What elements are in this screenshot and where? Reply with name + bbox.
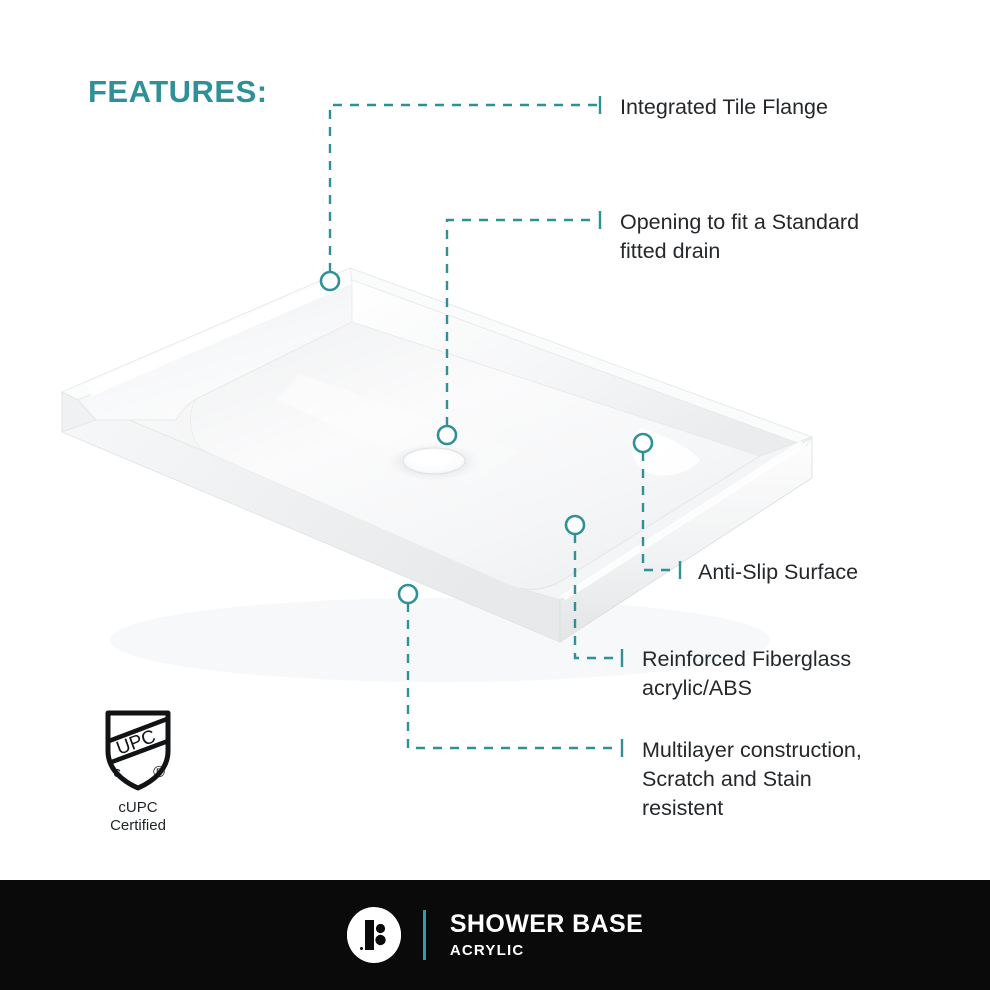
infographic-page: FEATURES: bbox=[0, 0, 990, 990]
cupc-shield-icon: UPC c ® bbox=[96, 707, 180, 793]
callout-label-integrated-tile-flange: Integrated Tile Flange bbox=[620, 93, 828, 122]
callout-label-multilayer-construction: Multilayer construction, Scratch and Sta… bbox=[642, 736, 862, 823]
callout-label-anti-slip-surface: Anti-Slip Surface bbox=[698, 558, 858, 587]
footer-bar: SHOWER BASE ACRYLIC bbox=[0, 880, 990, 990]
connector-anti-slip-surface bbox=[643, 452, 678, 570]
marker-standard-drain-opening[interactable] bbox=[438, 426, 456, 444]
footer-text-block: SHOWER BASE ACRYLIC bbox=[450, 910, 643, 961]
marker-anti-slip-surface[interactable] bbox=[634, 434, 652, 452]
marker-integrated-tile-flange[interactable] bbox=[321, 272, 339, 290]
cupc-left-mark: c bbox=[113, 764, 121, 781]
footer-divider bbox=[423, 910, 426, 960]
callout-label-reinforced-fiberglass: Reinforced Fiberglass acrylic/ABS bbox=[642, 645, 851, 703]
footer-content: SHOWER BASE ACRYLIC bbox=[347, 907, 643, 963]
connector-reinforced-fiberglass bbox=[575, 534, 620, 658]
footer-product-title: SHOWER BASE bbox=[450, 910, 643, 938]
cupc-registered-mark: ® bbox=[153, 764, 165, 781]
connector-multilayer-construction bbox=[408, 603, 620, 748]
brand-logo-period bbox=[360, 947, 363, 950]
callout-connectors bbox=[0, 0, 990, 990]
brand-logo-icon bbox=[347, 907, 401, 963]
cupc-caption: cUPC Certified bbox=[78, 799, 198, 835]
brand-logo-dot-upper bbox=[376, 924, 385, 933]
cupc-certification-badge: UPC c ® cUPC Certified bbox=[78, 707, 198, 835]
brand-logo-bar bbox=[365, 920, 374, 950]
callout-label-standard-drain-opening: Opening to fit a Standard fitted drain bbox=[620, 208, 859, 266]
marker-multilayer-construction[interactable] bbox=[399, 585, 417, 603]
connector-integrated-tile-flange bbox=[330, 105, 598, 272]
connector-standard-drain-opening bbox=[447, 220, 598, 426]
brand-logo-dot-lower bbox=[375, 935, 385, 945]
marker-reinforced-fiberglass[interactable] bbox=[566, 516, 584, 534]
footer-product-material: ACRYLIC bbox=[450, 941, 643, 961]
